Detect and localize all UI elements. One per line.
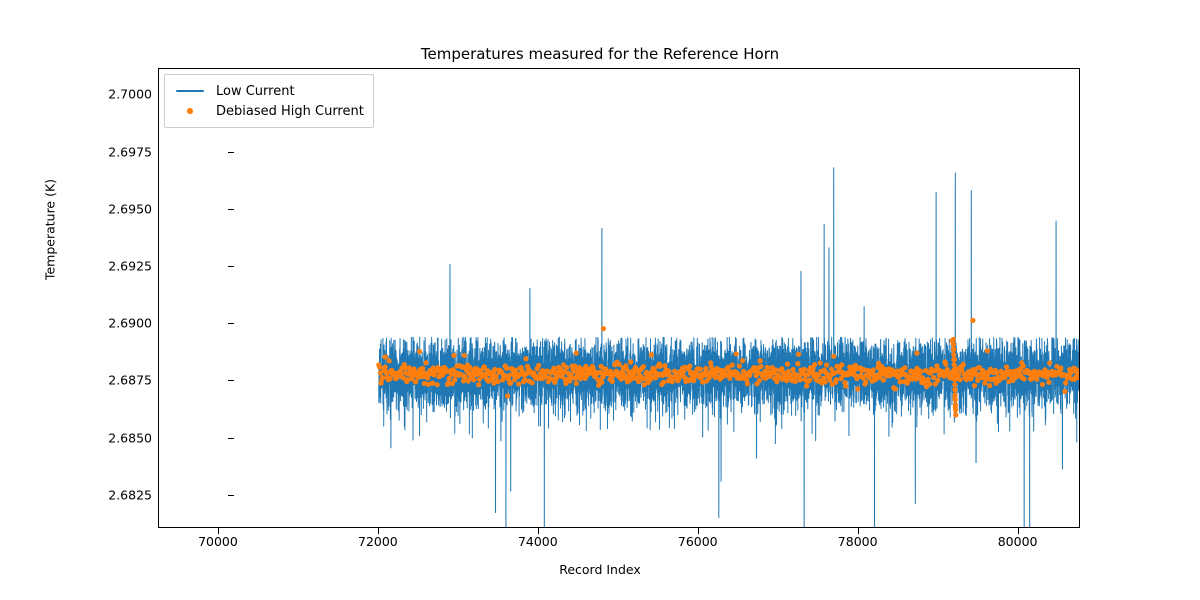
x-tick-mark — [538, 528, 539, 534]
x-tick-mark — [1018, 528, 1019, 534]
x-tick-label: 72000 — [333, 534, 423, 549]
x-tick-mark — [218, 528, 219, 534]
legend-label-debiased-high-current: Debiased High Current — [216, 104, 364, 119]
chart-legend: Low Current Debiased High Current — [164, 74, 374, 128]
x-tick-label: 78000 — [813, 534, 903, 549]
x-tick-label: 80000 — [973, 534, 1063, 549]
x-tick-mark — [698, 528, 699, 534]
x-tick-label: 74000 — [493, 534, 583, 549]
legend-item-low-current: Low Current — [173, 81, 364, 101]
legend-dot-icon — [173, 104, 207, 118]
x-tick-mark — [858, 528, 859, 534]
legend-label-low-current: Low Current — [216, 84, 295, 99]
x-tick-mark — [378, 528, 379, 534]
x-tick-label: 76000 — [653, 534, 743, 549]
legend-item-debiased-high-current: Debiased High Current — [173, 101, 364, 121]
y-axis-label: Temperature (K) — [43, 120, 58, 340]
matplotlib-figure: Temperatures measured for the Reference … — [0, 0, 1200, 600]
x-tick-label: 70000 — [173, 534, 263, 549]
x-axis-label: Record Index — [0, 562, 1200, 577]
legend-line-icon — [173, 84, 207, 98]
